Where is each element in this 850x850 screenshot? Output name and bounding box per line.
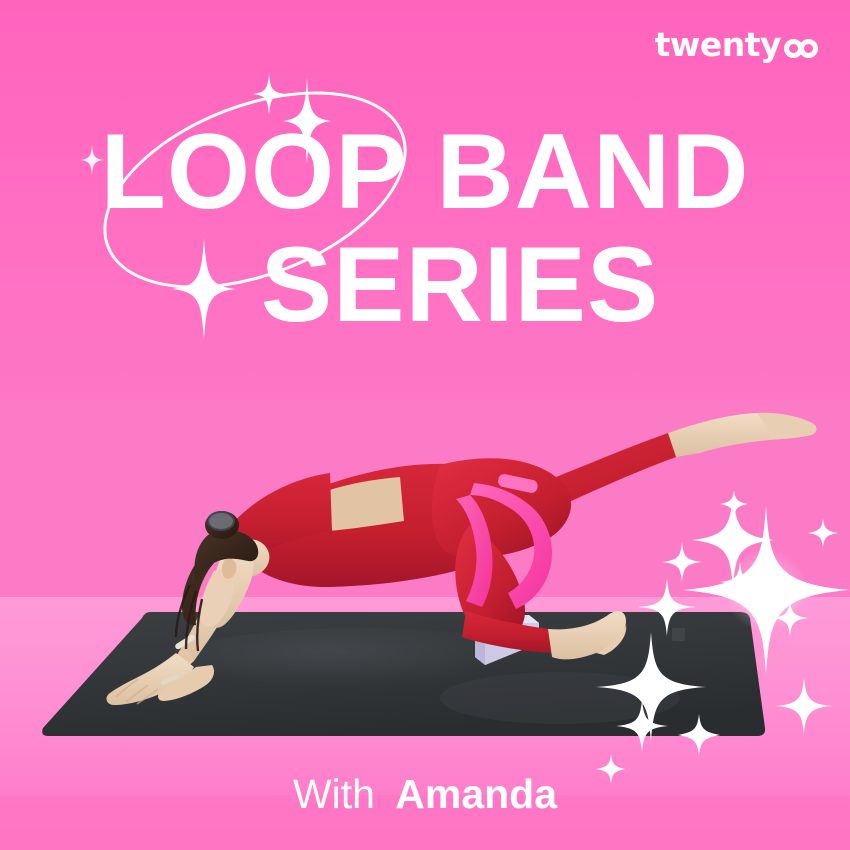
instructor-name: Amanda bbox=[395, 771, 557, 817]
model-figure bbox=[0, 395, 850, 735]
instructor-credit: With Amanda bbox=[0, 774, 850, 815]
credit-prefix: With bbox=[293, 771, 375, 817]
infinity-icon bbox=[784, 39, 818, 58]
brand-name: twenty bbox=[655, 28, 781, 61]
orbit-ring bbox=[76, 53, 435, 328]
promo-card: LOOP BAND SERIES twenty With Amanda bbox=[0, 0, 850, 850]
brand-logo[interactable]: twenty bbox=[655, 24, 818, 64]
sparkle-title-d bbox=[80, 145, 104, 175]
